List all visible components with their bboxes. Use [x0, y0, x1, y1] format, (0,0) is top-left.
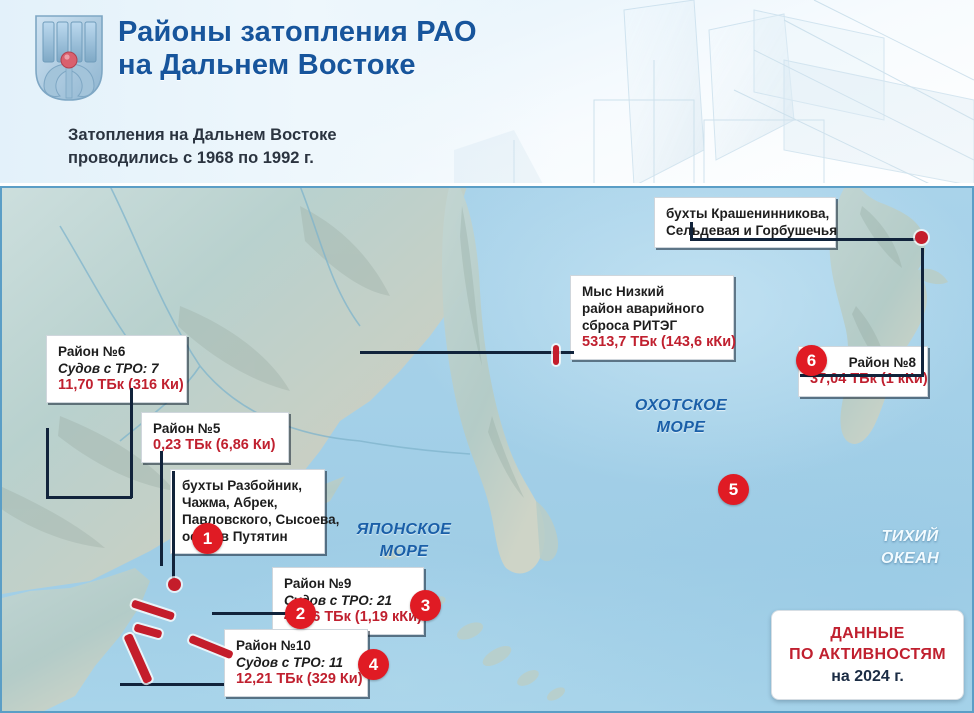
callout-rayon-5[interactable]: Район №5 0,23 ТБк (6,86 Ки)	[141, 412, 289, 463]
page-subtitle-line-1: Затопления на Дальнем Востоке	[68, 124, 688, 147]
leader-line-rayon-8-h	[800, 374, 924, 377]
note-kamchatka-bays-line-1: бухты Крашенинникова,	[666, 205, 824, 222]
dump-site-marker-kamchatka[interactable]	[915, 231, 928, 244]
data-stamp-box: ДАННЫЕ ПО АКТИВНОСТЯМ на 2024 г.	[771, 610, 964, 700]
page-title: Районы затопления РАО на Дальнем Востоке	[118, 16, 818, 82]
callout-rayon-6-title: Район №6	[58, 343, 175, 360]
leader-line-rayon-6-left	[46, 428, 49, 498]
map-badge-5[interactable]: 5	[718, 474, 749, 505]
callout-rayon-6[interactable]: Район №6 Судов с ТРО: 7 11,70 ТБк (316 К…	[46, 335, 187, 403]
map-badge-2[interactable]: 2	[285, 598, 316, 629]
note-primorye-bays-line-1: бухты Разбойник,	[182, 477, 313, 494]
leader-line-kamchatka-bays-v	[690, 222, 693, 240]
map-badge-3[interactable]: 3	[410, 590, 441, 621]
callout-rayon-6-subtitle: Судов с ТРО: 7	[58, 360, 175, 377]
callout-rayon-5-value: 0,23 ТБк (6,86 Ки)	[153, 437, 277, 454]
callout-rayon-10-subtitle: Судов с ТРО: 11	[236, 654, 356, 671]
map-badge-1[interactable]: 1	[192, 523, 223, 554]
note-primorye-bays-line-2: Чажма, Абрек,	[182, 494, 313, 511]
callout-rayon-5-title: Район №5	[153, 420, 277, 437]
map-badge-3-number: 3	[421, 596, 430, 616]
leader-line-rayon-6-h	[46, 496, 132, 499]
dump-site-marker-sakhalin[interactable]	[553, 345, 559, 365]
rosatom-shield-logo	[32, 12, 106, 104]
data-stamp-line-1: ДАННЫЕ	[830, 623, 904, 644]
page-title-line-2: на Дальнем Востоке	[118, 49, 818, 82]
callout-mys-nizky-line-2: район аварийного	[582, 300, 722, 317]
callout-rayon-10-value: 12,21 ТБк (329 Ки)	[236, 671, 356, 688]
callout-mys-nizky-line-3: сброса РИТЭГ	[582, 317, 722, 334]
callout-mys-nizky[interactable]: Мыс Низкий район аварийного сброса РИТЭГ…	[570, 275, 734, 360]
header-banner: Районы затопления РАО на Дальнем Востоке…	[0, 0, 974, 186]
callout-rayon-9-title: Район №9	[284, 575, 412, 592]
infographic-page: Районы затопления РАО на Дальнем Востоке…	[0, 0, 974, 713]
map-badge-4[interactable]: 4	[358, 649, 389, 680]
dump-site-marker-dot-putyatin[interactable]	[168, 578, 181, 591]
map-badge-2-number: 2	[296, 604, 305, 624]
data-stamp-line-3: на 2024 г.	[831, 665, 904, 688]
leader-line-rayon-5	[160, 451, 163, 566]
map-badge-5-number: 5	[729, 480, 738, 500]
callout-rayon-6-value: 11,70 ТБк (316 Ки)	[58, 377, 175, 394]
leader-line-mys-nizky	[360, 351, 574, 354]
page-subtitle-line-2: проводились с 1968 по 1992 г.	[68, 147, 688, 170]
leader-line-rayon-6	[130, 388, 133, 498]
leader-line-bays	[172, 471, 175, 586]
map-badge-6-number: 6	[807, 351, 816, 371]
callout-mys-nizky-value: 5313,7 ТБк (143,6 кКи)	[582, 334, 722, 351]
leader-line-rayon-8	[921, 248, 924, 376]
page-subtitle: Затопления на Дальнем Востоке проводилис…	[68, 124, 688, 170]
callout-mys-nizky-title: Мыс Низкий	[582, 283, 722, 300]
leader-line-kamchatka-bays	[690, 238, 918, 241]
map-badge-6[interactable]: 6	[796, 345, 827, 376]
callout-rayon-10[interactable]: Район №10 Судов с ТРО: 11 12,21 ТБк (329…	[224, 629, 368, 697]
map-badge-1-number: 1	[203, 529, 212, 549]
page-title-line-1: Районы затопления РАО	[118, 16, 818, 49]
leader-line-rayon-10	[120, 683, 224, 686]
callout-rayon-10-title: Район №10	[236, 637, 356, 654]
data-stamp-line-2: ПО АКТИВНОСТЯМ	[789, 644, 946, 665]
map-badge-4-number: 4	[369, 655, 378, 675]
